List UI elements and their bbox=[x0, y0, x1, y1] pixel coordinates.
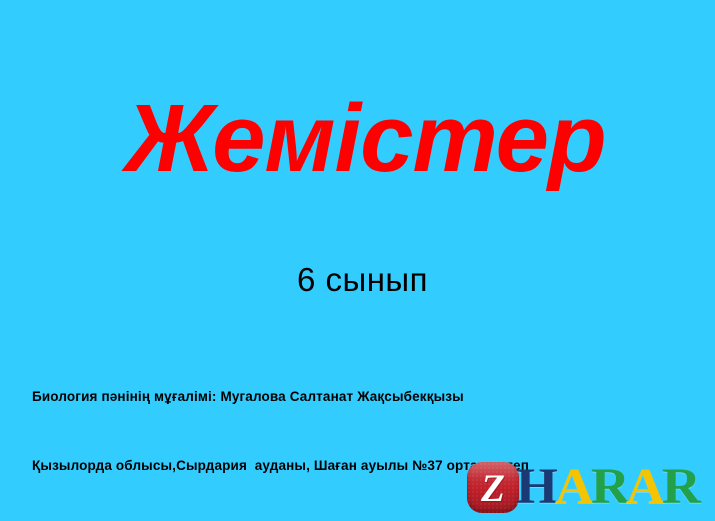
zharar-letter-h: H bbox=[516, 458, 557, 516]
author-line-teacher: Биология пәнінің мұғалімі: Мугалова Салт… bbox=[32, 385, 682, 408]
zharar-badge-letter: Z bbox=[467, 463, 519, 513]
slide-subtitle: 6 сынып bbox=[0, 261, 715, 299]
zharar-badge-icon: Z bbox=[467, 462, 519, 513]
zharar-letter-r1: R bbox=[590, 458, 628, 516]
zharar-letter-a1: A bbox=[555, 458, 593, 516]
page-title: Жемістер bbox=[0, 84, 715, 194]
presentation-slide: Жемістер 6 сынып Биология пәнінің мұғалі… bbox=[0, 0, 715, 521]
zharar-letter-a2: A bbox=[626, 458, 664, 516]
zharar-wordmark: HARAR bbox=[517, 458, 699, 516]
zharar-logo[interactable]: Z HARAR bbox=[465, 458, 715, 516]
zharar-letter-r2: R bbox=[662, 458, 700, 516]
